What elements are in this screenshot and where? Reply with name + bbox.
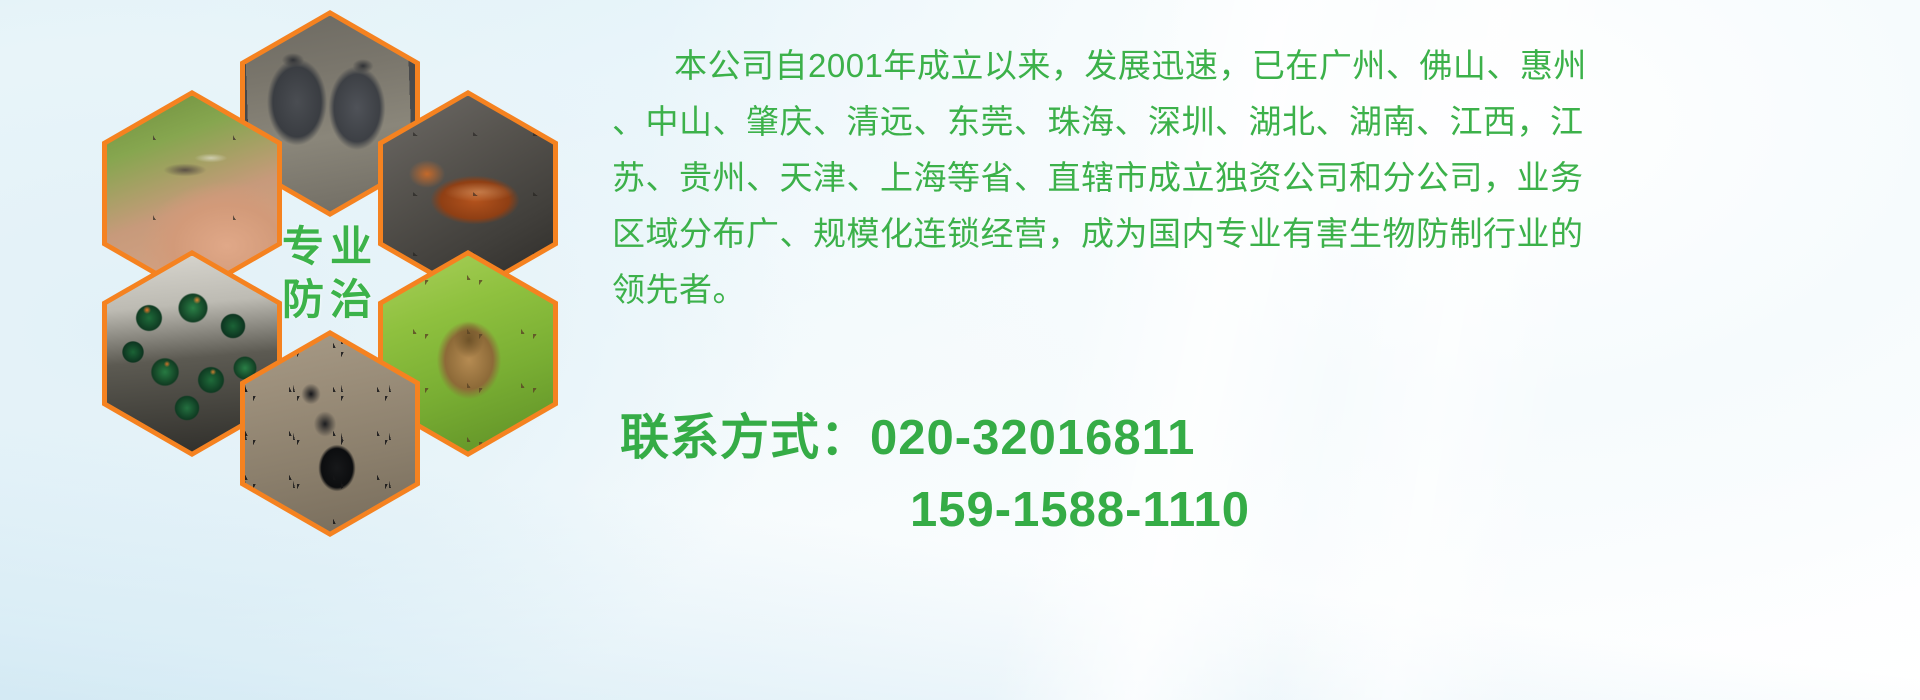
description-line-4: 区域分布广、规模化连锁经营，成为国内专业有害生物防制行业的 [612, 206, 1880, 262]
hexagon-photo-cluster: 专业 防治 [92, 8, 572, 568]
contact-phone-secondary[interactable]: 159-1588-1110 [620, 474, 1900, 546]
contact-phone-primary[interactable]: 联系方式：020-32016811 [620, 402, 1900, 474]
description-line-2: 、中山、肇庆、清远、东莞、珠海、深圳、湖北、湖南、江西，江 [612, 94, 1880, 150]
description-line-1: 本公司自2001年成立以来，发展迅速，已在广州、佛山、惠州 [612, 38, 1880, 94]
logo-slogan-line-1: 专业 [282, 221, 378, 274]
contact-block: 联系方式：020-32016811 159-1588-1110 [620, 402, 1900, 546]
company-description: 本公司自2001年成立以来，发展迅速，已在广州、佛山、惠州 、中山、肇庆、清远、… [612, 38, 1880, 318]
description-line-5: 领先者。 [612, 262, 1880, 318]
logo-slogan-line-2: 防治 [282, 274, 378, 327]
company-description-text: 本公司自2001年成立以来，发展迅速，已在广州、佛山、惠州 、中山、肇庆、清远、… [612, 38, 1880, 318]
logo-slogan: 专业 防治 [240, 170, 420, 377]
description-line-3: 苏、贵州、天津、上海等省、直辖市成立独资公司和分公司，业务 [612, 150, 1880, 206]
promo-banner: 专业 防治 本公司自2001年成立以来，发展迅速，已在广州、佛山、惠州 、中山、… [0, 0, 1920, 700]
